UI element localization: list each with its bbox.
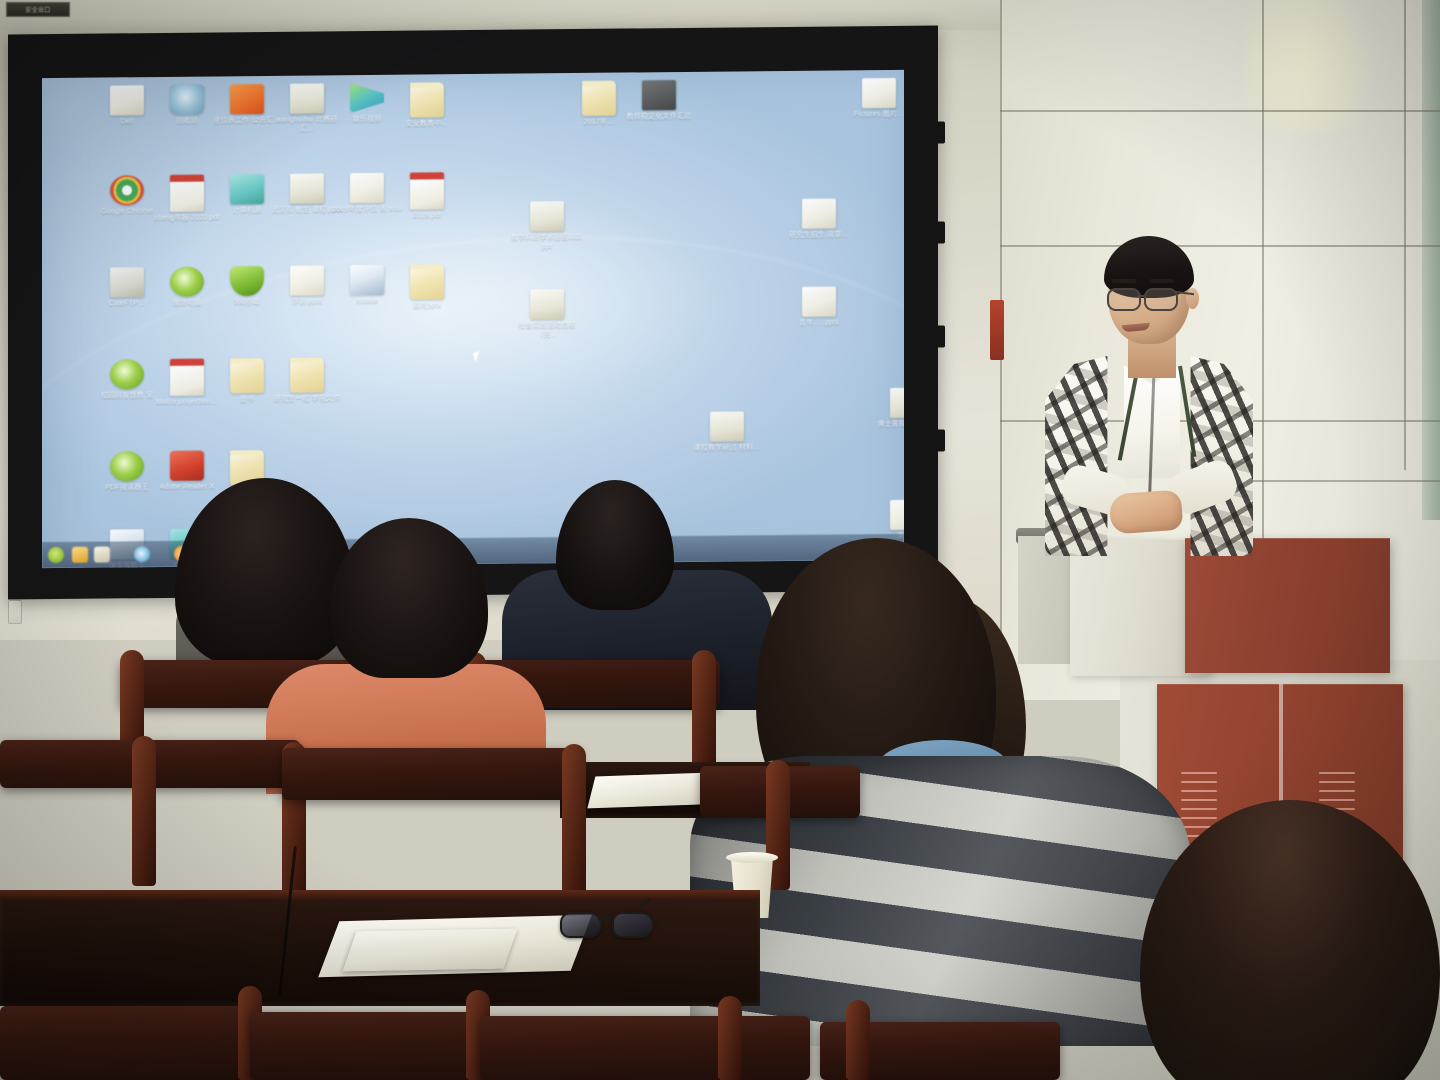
desktop-icon-label: 教学科研学术报告002.ppt [510, 234, 584, 252]
document-icon [710, 411, 744, 441]
quick-launch-green-icon[interactable] [72, 547, 88, 563]
shortcut-icon [110, 85, 144, 115]
folder-icon [290, 357, 324, 392]
folder-icon [410, 82, 444, 117]
papers-on-desk-front-2 [343, 929, 518, 972]
desktop-icon-label: 博士答辩 材料.doc [870, 420, 904, 429]
start-orb-icon[interactable] [48, 547, 64, 563]
folder-icon [862, 78, 896, 108]
wall-seam [1000, 110, 1440, 112]
desktop-icon-label: 青年… .pptx [782, 319, 856, 328]
bench-post [692, 650, 716, 770]
desktop-icon-label: 研究生招生 简章… [782, 231, 856, 240]
wall-seam [1404, 0, 1406, 470]
app-icon [110, 451, 144, 481]
lecture-room-photo: 安全出口 Dell回收站座位表工作 公告汇…wanghuihui 比赛研汇…娱乐… [0, 0, 1440, 1080]
presentation-icon [290, 265, 324, 295]
right-wall-green-edge [1422, 0, 1440, 520]
speaker-eyebrow-right [1150, 279, 1174, 283]
archive-icon [642, 80, 676, 110]
desktop-icon-label: 社会实践活动总结（完… [510, 322, 584, 340]
pdf-icon [410, 172, 444, 209]
document-icon [890, 388, 904, 418]
bench-backrest-row3-right [480, 1016, 810, 1080]
ie-browser-icon[interactable] [134, 546, 150, 562]
desktop-icon-presentation[interactable]: 教学科研学术报告002.ppt [510, 201, 584, 252]
app-icon [110, 359, 144, 389]
folder-icon [410, 264, 444, 299]
desktop-icon-label: 研究生一程 学院文件 [270, 395, 344, 404]
screen-frame-notch [936, 121, 945, 143]
eyeglasses-on-desk-icon [560, 908, 652, 938]
desktop-icon-label: 课程教学研讨 材料… [690, 444, 764, 453]
desktop-icon-label: 2019.pdf [390, 212, 464, 221]
desktop-icon-folder[interactable]: 安全教育中… [390, 82, 464, 129]
desktop-icon-label: 安全教育中… [390, 120, 464, 129]
desktop-icon-pdf[interactable]: 2019.pdf [390, 172, 464, 221]
desktop-icon-label: 研究生工作 资料… [902, 110, 904, 119]
browser-icon [110, 175, 144, 205]
presentation-icon [802, 287, 836, 317]
app-icon [110, 267, 144, 297]
folder-icon [230, 358, 264, 393]
desktop-icon-document[interactable]: 研究生工作 资料… [902, 77, 904, 119]
bench-post [132, 736, 156, 886]
document-icon [290, 83, 324, 113]
wall-exit-sign: 安全出口 [6, 2, 70, 17]
presentation-icon [530, 201, 564, 231]
desktop-icon-presentation[interactable]: 青年… .pptx [782, 286, 856, 328]
wall-seam [1240, 480, 1440, 482]
screen-glare [42, 70, 904, 568]
arrow-cursor [473, 351, 482, 362]
speaker-eyebrow-left [1112, 279, 1136, 283]
projected-desktop[interactable]: Dell回收站座位表工作 公告汇…wanghuihui 比赛研汇…娱乐视频安全教… [42, 70, 904, 568]
desktop-icon-document[interactable]: 研究生招生 简章… [782, 198, 856, 240]
desktop-icon-folder[interactable]: 素材pptx [390, 264, 464, 311]
app-icon [230, 84, 264, 114]
desktop-icon-label: 素材pptx [390, 302, 464, 311]
desktop-icon-document[interactable]: 社会实践活动总结（完… [510, 289, 584, 340]
lectern-front-panel: 西安交通大学 数学学院 [1185, 538, 1390, 673]
screen-frame-notch [936, 325, 945, 347]
paper-cup-rim [726, 852, 778, 863]
antivirus-icon [230, 266, 264, 296]
app-icon [230, 174, 264, 204]
pdf-icon [170, 175, 204, 212]
desktop-icon-document[interactable]: 博士答辩 材料.doc [870, 387, 904, 429]
bench-post [718, 996, 742, 1080]
screen-frame-notch [936, 221, 945, 243]
pdf-reader-icon [170, 451, 204, 481]
image-icon [350, 265, 384, 295]
desktop-icon-label: Pictures 图片… [842, 111, 904, 120]
presentation-icon [290, 173, 324, 203]
wall-red-strip [990, 300, 1004, 360]
quick-launch-folder-icon[interactable] [94, 546, 110, 562]
eyeglasses-icon [1104, 288, 1192, 307]
document-icon [890, 500, 904, 530]
desktop-icon-label: 教师稳定化文件汇总 [622, 113, 696, 122]
speaker-hands-clasped [1109, 490, 1184, 535]
desktop-icon-archive[interactable]: 教师稳定化文件汇总 [622, 80, 696, 122]
pdf-icon [170, 359, 204, 396]
document-icon [530, 289, 564, 319]
recycle-bin-icon [170, 85, 204, 115]
document-icon [802, 199, 836, 229]
projection-screen-frame: Dell回收站座位表工作 公告汇…wanghuihui 比赛研汇…娱乐视频安全教… [8, 26, 938, 600]
folder-icon [582, 81, 616, 116]
wall-seam [1000, 245, 1440, 247]
bench-post [846, 1000, 870, 1080]
desktop-icon-folder[interactable]: 研究生一程 学院文件 [270, 357, 344, 404]
bench-backrest-row3-mid [250, 1012, 480, 1080]
bench-post [562, 744, 586, 894]
app-icon [170, 267, 204, 297]
desktop-icon-folder[interactable]: Pictures 图片… [842, 78, 904, 120]
bench-backrest-row3-left [0, 1006, 250, 1080]
bench-backrest-row2-right [282, 748, 582, 800]
light-switch-plate[interactable] [8, 600, 22, 624]
desktop-icon-document[interactable]: 课程教学研讨 材料… [690, 411, 764, 453]
spreadsheet-icon [350, 173, 384, 203]
media-icon [350, 83, 384, 113]
screen-frame-notch [936, 429, 945, 451]
